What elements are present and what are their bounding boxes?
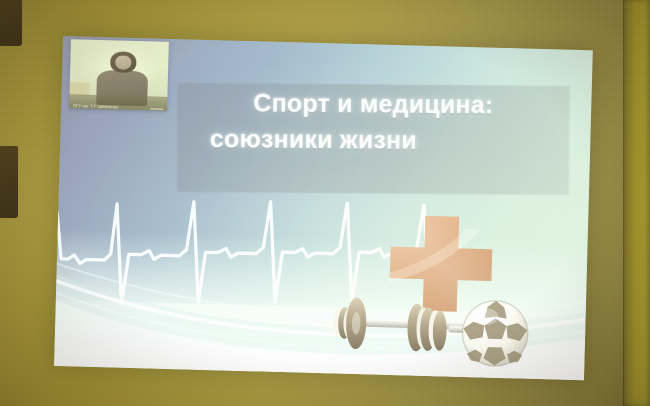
projection-screen: Спорт и медицина: союзники жизни ПГУ и	[54, 36, 593, 380]
slide-title-line-1: Спорт и медицина:	[188, 86, 559, 124]
soccer-ball-icon	[457, 298, 533, 369]
wall-right-surface	[624, 0, 650, 406]
wall-panel-mid-left	[0, 146, 18, 218]
slide-title: Спорт и медицина: союзники жизни	[188, 86, 560, 160]
video-caption-text: ПГУ им. Т.Г. Шевченко	[73, 103, 118, 109]
presentation-slide: Спорт и медицина: союзники жизни ПГУ и	[54, 36, 593, 380]
speaker-face	[115, 55, 131, 69]
slide-title-line-2: союзники жизни	[188, 121, 559, 159]
video-caption-bar: ПГУ им. Т.Г. Шевченко	[69, 94, 167, 111]
screenshot-root: Спорт и медицина: союзники жизни ПГУ и	[0, 0, 650, 406]
video-badge	[150, 108, 163, 110]
video-conference-window[interactable]: ПГУ им. Т.Г. Шевченко	[69, 39, 169, 111]
wall-panel-top-left	[0, 0, 22, 46]
